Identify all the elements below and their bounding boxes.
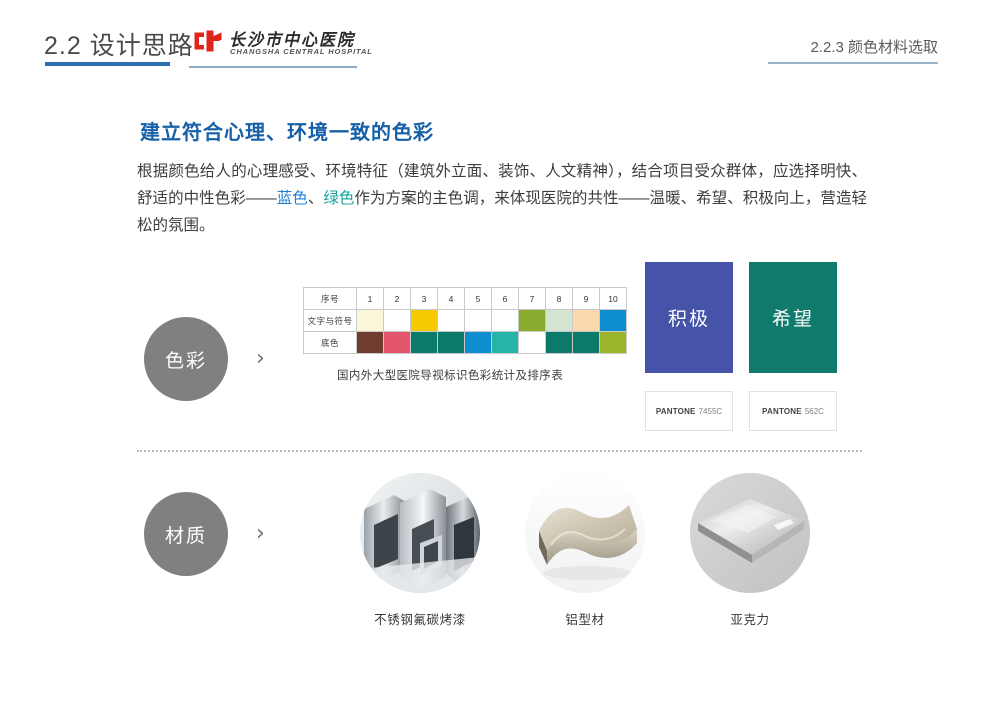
- pantone-code-positive: 7455C: [699, 407, 723, 416]
- color-statistics-table: 序号 1 2 3 4 5 6 7 8 9 10 文字与符号 底色: [303, 287, 627, 354]
- pantone-label-positive: PANTONE 7455C: [645, 391, 733, 431]
- pantone-swatch-positive: 积极: [645, 262, 733, 373]
- swatch-text-10: [600, 310, 627, 332]
- table-col-num-7: 7: [519, 288, 546, 310]
- header-right-title: 2.2.3 颜色材料选取: [810, 36, 938, 57]
- swatch-base-8: [546, 332, 573, 354]
- pantone-swatch-hope: 希望: [749, 262, 837, 373]
- table-col-num-2: 2: [384, 288, 411, 310]
- pantone-code-hope: 562C: [805, 407, 824, 416]
- material-item-acrylic: 亚克力: [690, 473, 810, 628]
- page-header: 2.2 设计思路 长沙市中心医院 CHANGSHA CENTRAL HOSPIT…: [0, 0, 1000, 78]
- swatch-text-4: [438, 310, 465, 332]
- header-right-underline: [768, 62, 938, 64]
- badge-color: 色彩: [144, 317, 228, 401]
- swatch-base-6: [492, 332, 519, 354]
- swatch-base-2: [384, 332, 411, 354]
- swatch-text-8: [546, 310, 573, 332]
- swatch-base-10: [600, 332, 627, 354]
- material-caption-1: 铝型材: [525, 609, 645, 628]
- table-col-num-10: 10: [600, 288, 627, 310]
- table-col-num-5: 5: [465, 288, 492, 310]
- color-table-caption: 国内外大型医院导视标识色彩统计及排序表: [337, 367, 563, 383]
- material-caption-2: 亚克力: [690, 609, 810, 628]
- table-row-index: 序号 1 2 3 4 5 6 7 8 9 10: [304, 288, 627, 310]
- hospital-logo-en-name: CHANGSHA CENTRAL HOSPITAL: [230, 47, 373, 56]
- stainless-steel-tubes-photo: [360, 473, 480, 593]
- swatch-base-4: [438, 332, 465, 354]
- swatch-base-3: [411, 332, 438, 354]
- table-row-label-text-symbol: 文字与符号: [304, 310, 357, 332]
- pantone-brand-hope: PANTONE: [762, 407, 802, 416]
- swatch-base-5: [465, 332, 492, 354]
- chevron-right-icon-material: ›: [256, 521, 265, 546]
- section-heading: 建立符合心理、环境一致的色彩: [140, 116, 434, 145]
- swatch-base-9: [573, 332, 600, 354]
- swatch-base-1: [357, 332, 384, 354]
- table-col-num-4: 4: [438, 288, 465, 310]
- swatch-text-7: [519, 310, 546, 332]
- swatch-text-3: [411, 310, 438, 332]
- acrylic-sheet-photo: [690, 473, 810, 593]
- material-item-stainless-steel: 不锈钢氟碳烤漆: [360, 473, 480, 628]
- hospital-logo: 长沙市中心医院 CHANGSHA CENTRAL HOSPITAL: [193, 26, 358, 60]
- table-row-text-symbol: 文字与符号: [304, 310, 627, 332]
- swatch-base-7: [519, 332, 546, 354]
- table-row-base-color: 底色: [304, 332, 627, 354]
- table-row-label-index: 序号: [304, 288, 357, 310]
- header-left-title: 2.2 设计思路: [44, 26, 194, 62]
- body-paragraph: 根据颜色给人的心理感受、环境特征（建筑外立面、装饰、人文精神），结合项目受众群体…: [137, 158, 867, 239]
- swatch-text-2: [384, 310, 411, 332]
- swatch-text-1: [357, 310, 384, 332]
- pantone-card-hope: 希望 PANTONE 562C: [749, 262, 837, 431]
- swatch-text-5: [465, 310, 492, 332]
- table-col-num-1: 1: [357, 288, 384, 310]
- table-col-num-8: 8: [546, 288, 573, 310]
- header-logo-underline: [189, 66, 357, 68]
- section-divider: [137, 450, 862, 452]
- table-col-num-9: 9: [573, 288, 600, 310]
- pantone-card-positive: 积极 PANTONE 7455C: [645, 262, 733, 431]
- table-row-label-base-color: 底色: [304, 332, 357, 354]
- table-col-num-6: 6: [492, 288, 519, 310]
- paragraph-separator: 、: [308, 190, 324, 207]
- header-left-underline: [45, 62, 170, 66]
- aluminum-profile-photo: [525, 473, 645, 593]
- pantone-label-hope: PANTONE 562C: [749, 391, 837, 431]
- swatch-text-9: [573, 310, 600, 332]
- hospital-logo-mark-icon: [193, 28, 223, 54]
- chevron-right-icon-color: ›: [256, 346, 265, 371]
- paragraph-highlight-green: 绿色: [323, 190, 354, 207]
- material-item-aluminum-profile: 铝型材: [525, 473, 645, 628]
- table-col-num-3: 3: [411, 288, 438, 310]
- swatch-text-6: [492, 310, 519, 332]
- paragraph-highlight-blue: 蓝色: [277, 190, 308, 207]
- material-caption-0: 不锈钢氟碳烤漆: [360, 609, 480, 628]
- badge-material: 材质: [144, 492, 228, 576]
- pantone-brand-positive: PANTONE: [656, 407, 696, 416]
